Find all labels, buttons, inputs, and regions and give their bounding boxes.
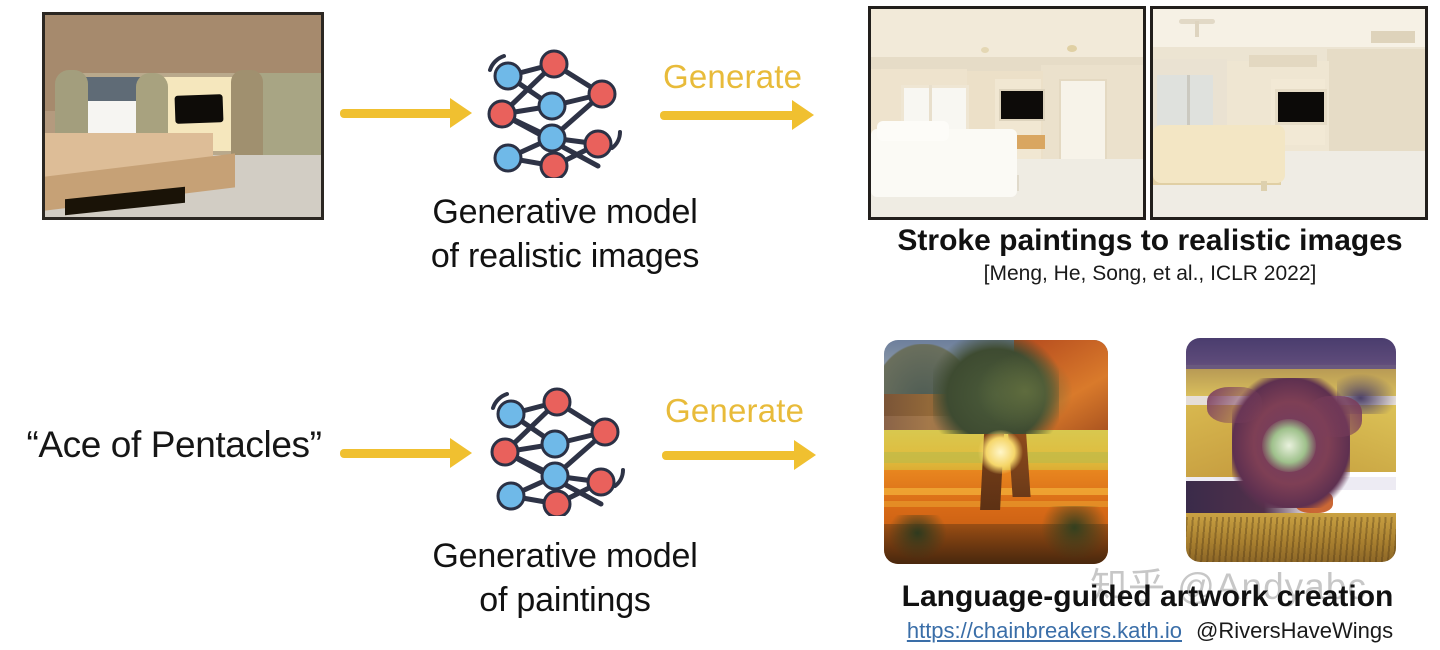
chainbreakers-link[interactable]: https://chainbreakers.kath.io xyxy=(907,618,1182,643)
art2-grass-texture xyxy=(1186,517,1396,562)
arrow-shaft xyxy=(340,109,458,118)
model-caption-row1: Generative model of realistic images xyxy=(355,190,775,278)
photo2-wall-right xyxy=(1327,49,1425,167)
arrow-shaft xyxy=(660,111,800,120)
art2-branch-right xyxy=(1308,396,1363,436)
art2-pentacle-glow xyxy=(1262,419,1317,473)
arrow-model-to-output-row1 xyxy=(660,100,822,130)
art1-bush-left xyxy=(888,515,946,560)
photo2-soffit-beam xyxy=(1249,55,1317,67)
caption-links-row2: https://chainbreakers.kath.io@RiversHave… xyxy=(860,618,1440,644)
photo1-pillows xyxy=(877,121,949,141)
photo2-bed xyxy=(1153,125,1285,183)
art1-canopy-highlight xyxy=(978,353,1072,429)
model-caption-line1: Generative model xyxy=(355,534,775,578)
arrow-head xyxy=(450,438,472,468)
photo2-air-vent xyxy=(1371,31,1415,43)
model-caption-line2: of paintings xyxy=(355,578,775,622)
stroke-tv xyxy=(175,94,224,124)
arrow-head xyxy=(792,100,814,130)
slide-canvas: Generate Generative model of realistic i… xyxy=(0,0,1440,650)
neural-network-icon xyxy=(480,48,630,178)
caption-citation-row1: [Meng, He, Song, et al., ICLR 2022] xyxy=(860,262,1440,286)
stroke-painting-input xyxy=(42,12,324,220)
photo2-ceiling-fan-stem xyxy=(1195,21,1199,37)
photo1-ceiling-light-2 xyxy=(1067,45,1077,52)
output-artwork-2 xyxy=(1186,338,1396,562)
photo1-television xyxy=(999,89,1045,121)
generate-label-row1: Generate xyxy=(663,58,802,96)
output-photo-bedroom-2 xyxy=(1150,6,1428,220)
model-caption-line1: Generative model xyxy=(355,190,775,234)
text-prompt-input: “Ace of Pentacles” xyxy=(14,424,334,466)
caption-title-row2: Language-guided artwork creation xyxy=(855,580,1440,614)
stroke-window-dark xyxy=(80,77,142,101)
arrow-head xyxy=(794,440,816,470)
photo1-ceiling-light-1 xyxy=(981,47,989,53)
arrow-shaft xyxy=(662,451,802,460)
art1-bush-right xyxy=(1041,506,1108,560)
output-artwork-1 xyxy=(884,340,1108,564)
art1-pentacle-glow xyxy=(978,430,1023,475)
caption-title-row1: Stroke paintings to realistic images xyxy=(860,224,1440,258)
arrow-model-to-output-row2 xyxy=(662,440,824,470)
art2-branch-left xyxy=(1207,387,1262,423)
model-caption-line2: of realistic images xyxy=(355,234,775,278)
photo2-bed-leg xyxy=(1261,181,1267,191)
output-photo-bedroom-1 xyxy=(868,6,1146,220)
arrow-input-to-model-row2 xyxy=(340,438,478,468)
photo2-television xyxy=(1275,89,1327,125)
arrow-input-to-model-row1 xyxy=(340,98,478,128)
twitter-handle[interactable]: @RiversHaveWings xyxy=(1196,618,1393,643)
model-caption-row2: Generative model of paintings xyxy=(355,534,775,622)
photo1-door xyxy=(1059,79,1107,167)
generate-label-row2: Generate xyxy=(665,392,804,430)
arrow-shaft xyxy=(340,449,458,458)
arrow-head xyxy=(450,98,472,128)
neural-network-icon xyxy=(483,386,633,516)
